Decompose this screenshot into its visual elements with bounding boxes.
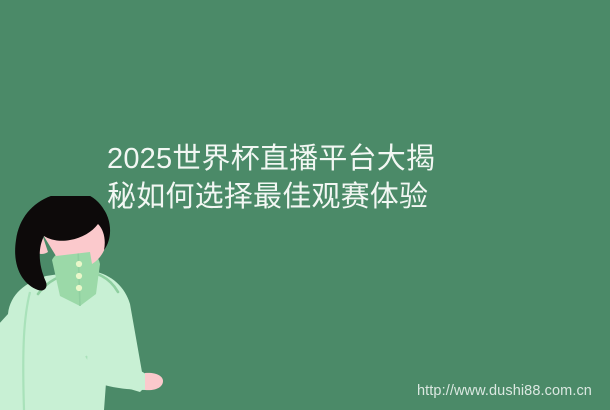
hand [145, 373, 163, 390]
watermark-url: http://www.dushi88.com.cn [417, 382, 592, 400]
article-cover-banner: 2025世界杯直播平台大揭秘如何选择最佳观赛体验 http://www.dush… [0, 0, 610, 410]
person-illustration [0, 196, 200, 410]
collar-buttons [76, 261, 82, 291]
page-title: 2025世界杯直播平台大揭秘如何选择最佳观赛体验 [107, 140, 447, 216]
